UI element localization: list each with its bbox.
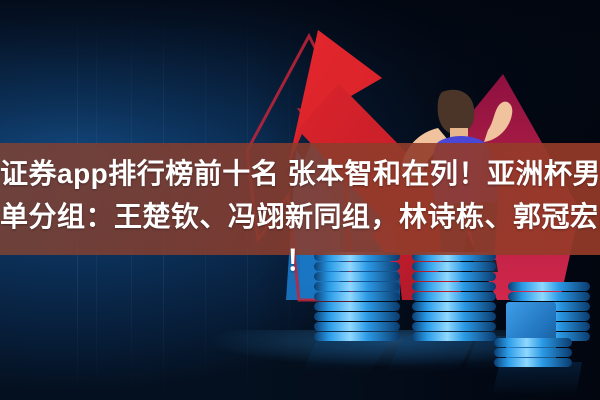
person-hair (438, 90, 475, 135)
banknote-and-stack-graphic (486, 300, 600, 400)
person-arm-right (484, 102, 512, 142)
caption-headline: 证券app排行榜前十名 张本智和在列！亚洲杯男 单分组：王楚钦、冯翊新同组，林诗… (0, 152, 600, 281)
caption-line-1: 证券app排行榜前十名 张本智和在列！亚洲杯男 (0, 152, 600, 195)
caption-line-3: ！ (0, 239, 600, 282)
coin-stack-4 (494, 338, 572, 367)
caption-line-2: 单分组：王楚钦、冯翊新同组，林诗栋、郭冠宏同组 (0, 195, 600, 238)
news-thumbnail: 证券app排行榜前十名 张本智和在列！亚洲杯男 单分组：王楚钦、冯翊新同组，林诗… (0, 0, 600, 400)
